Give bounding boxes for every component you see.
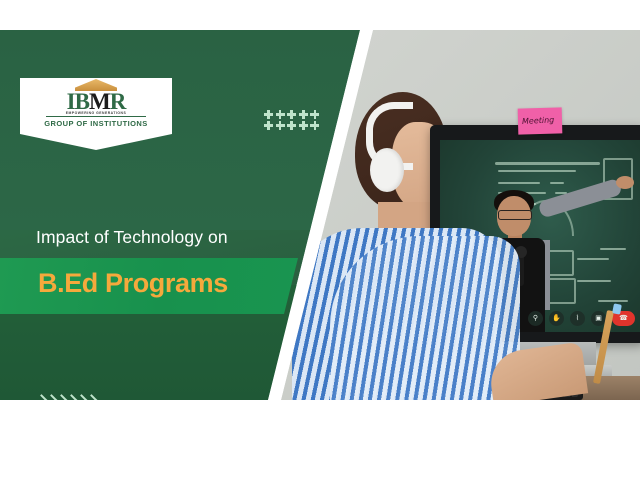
chalk-writing: [577, 280, 611, 282]
plus-icon: [276, 110, 285, 119]
plus-icon: [299, 110, 308, 119]
logo-group-text: GROUP OF INSTITUTIONS: [20, 119, 172, 128]
plus-icon: [264, 110, 273, 119]
chalk-writing: [550, 182, 564, 184]
chevron-right-icon: [46, 393, 55, 400]
chevron-right-icon: [56, 393, 65, 400]
headphone-earcup: [370, 148, 404, 192]
plus-icon: [276, 121, 285, 130]
chevron-right-icon: [36, 393, 45, 400]
page-title: Impact of Technology on: [36, 227, 228, 248]
plus-icon: [310, 121, 319, 130]
chalk-writing: [498, 182, 540, 184]
chalk-writing: [495, 162, 600, 165]
chalk-writing: [498, 170, 576, 172]
search-icon[interactable]: ⚲: [528, 311, 543, 326]
chalk-writing: [600, 248, 626, 250]
plus-pattern-decoration: [264, 110, 320, 130]
chalk-writing: [598, 300, 628, 302]
plus-icon: [287, 110, 296, 119]
chalk-writing: [577, 258, 609, 260]
teacher-hand: [616, 176, 634, 189]
logo-tagline: EMPOWERING GENERATIONS: [20, 111, 172, 115]
chevron-right-icon: [86, 393, 95, 400]
teacher-glasses: [498, 210, 532, 220]
plus-icon: [299, 121, 308, 130]
raise-hand-icon[interactable]: ✋: [549, 311, 564, 326]
chevron-right-icon: [76, 393, 85, 400]
page-subtitle: B.Ed Programs: [38, 268, 228, 299]
plus-icon: [264, 121, 273, 130]
logo-divider: [46, 116, 146, 117]
microphone-icon[interactable]: ⌇: [570, 311, 585, 326]
chevron-decoration: [36, 393, 95, 400]
plus-icon: [287, 121, 296, 130]
chevron-right-icon: [66, 393, 75, 400]
plus-icon: [310, 110, 319, 119]
promo-banner: ⚲ ✋ ⌇ ▣ ☎ Meeting Impact of Technology o…: [0, 30, 640, 400]
